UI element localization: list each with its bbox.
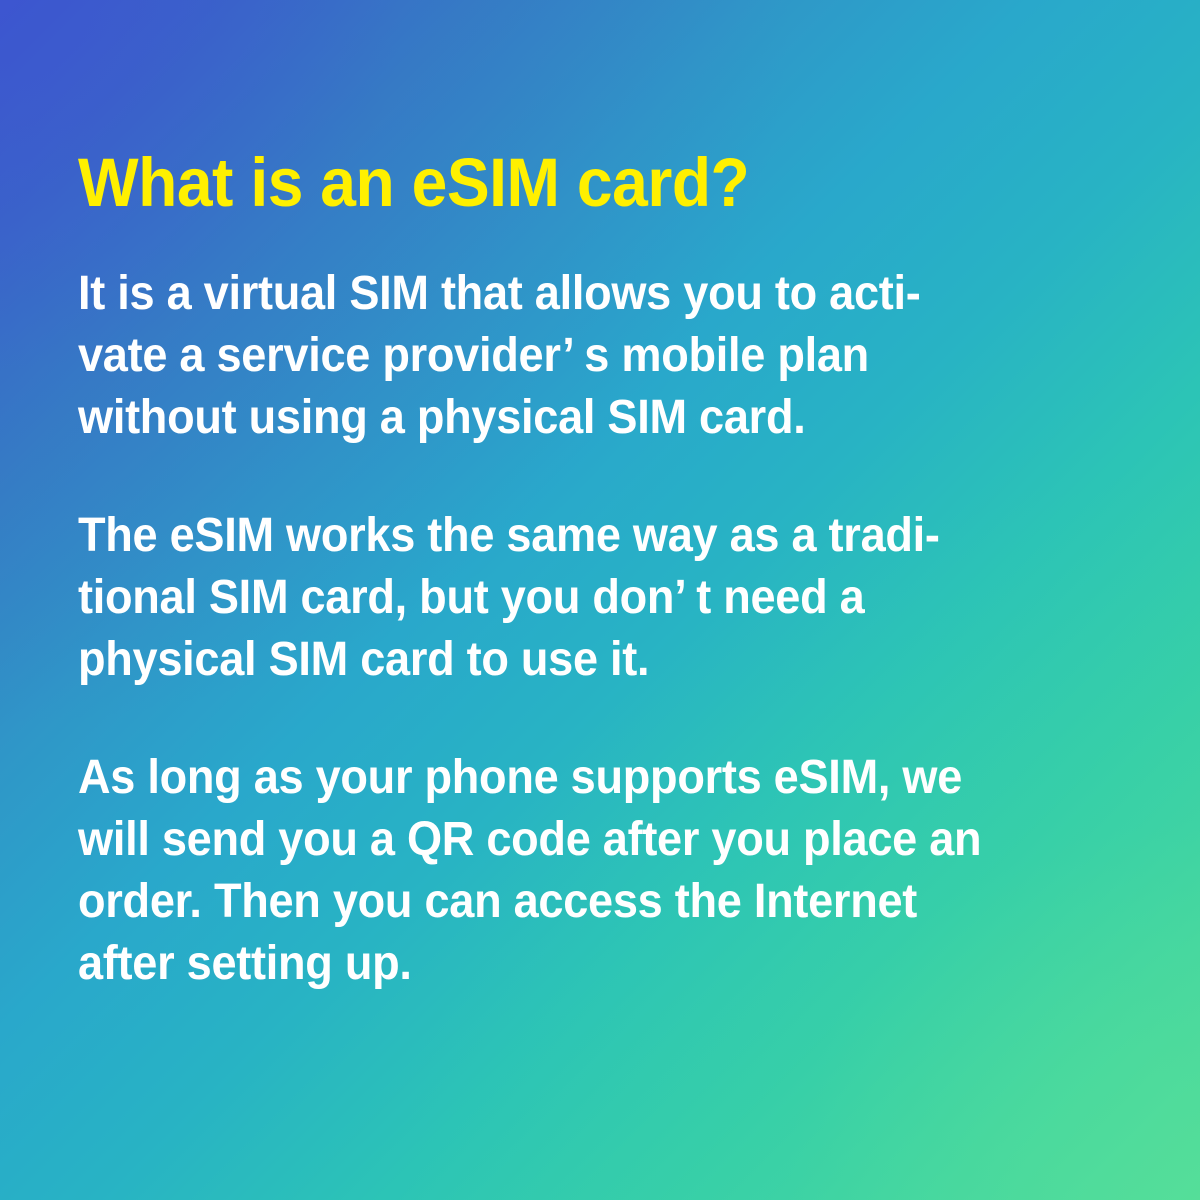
text-line: It is a virtual SIM that allows you to a… (78, 263, 1059, 325)
paragraph-definition: It is a virtual SIM that allows you to a… (78, 263, 1059, 449)
text-line: As long as your phone supports eSIM, we (78, 747, 1059, 809)
esim-info-card: What is an eSIM card? It is a virtual SI… (0, 0, 1200, 1200)
text-line: without using a physical SIM card. (78, 387, 1059, 449)
body-text-block: It is a virtual SIM that allows you to a… (78, 263, 1122, 995)
paragraph-delivery: As long as your phone supports eSIM, we … (78, 747, 1059, 995)
page-title: What is an eSIM card? (78, 0, 1049, 217)
text-line: will send you a QR code after you place … (78, 809, 1059, 871)
text-line: vate a service provider’ s mobile plan (78, 325, 1059, 387)
text-line: tional SIM card, but you don’ t need a (78, 567, 1059, 629)
text-line: The eSIM works the same way as a tradi- (78, 505, 1059, 567)
paragraph-comparison: The eSIM works the same way as a tradi- … (78, 505, 1059, 691)
card-content: What is an eSIM card? It is a virtual SI… (0, 0, 1200, 995)
text-line: physical SIM card to use it. (78, 629, 1059, 691)
text-line: order. Then you can access the Internet (78, 871, 1059, 933)
text-line: after setting up. (78, 933, 1059, 995)
